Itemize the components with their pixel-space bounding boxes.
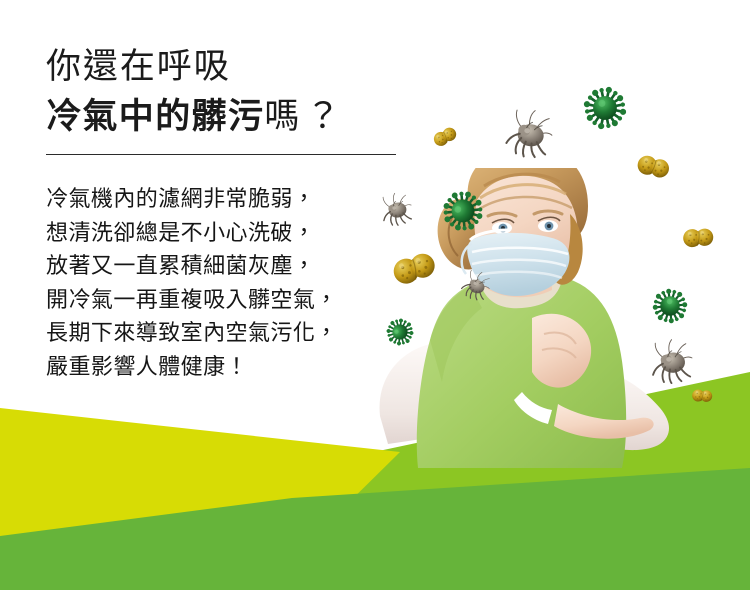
headline-question-mark: ？: [305, 97, 342, 136]
body-copy-line-6: 嚴重影響人體健康！: [46, 350, 446, 384]
headline-line-2: 冷氣中的髒污嗎？: [46, 92, 446, 142]
promo-banner: 你還在呼吸 冷氣中的髒污嗎？ 冷氣機內的濾網非常脆弱， 想清洗卻總是不小心洗破，…: [0, 0, 750, 590]
girl-head: [438, 168, 588, 297]
headline-line-1: 你還在呼吸: [46, 44, 446, 90]
body-copy-line-5: 長期下來導致室內空氣污化，: [46, 316, 446, 350]
headline-particle: 嗎: [264, 97, 301, 136]
headline-divider: [46, 154, 396, 155]
body-copy-line-2: 想清洗卻總是不小心洗破，: [46, 216, 446, 250]
body-copy-line-3: 放著又一直累積細菌灰塵，: [46, 249, 446, 283]
text-block: 你還在呼吸 冷氣中的髒污嗎？ 冷氣機內的濾網非常脆弱， 想清洗卻總是不小心洗破，…: [46, 44, 446, 383]
body-copy-line-1: 冷氣機內的濾網非常脆弱，: [46, 182, 446, 216]
headline-emphasis: 冷氣中的髒污: [46, 97, 264, 136]
body-copy: 冷氣機內的濾網非常脆弱， 想清洗卻總是不小心洗破， 放著又一直累積細菌灰塵， 開…: [46, 182, 446, 383]
girl-pupil-right: [547, 224, 551, 228]
body-copy-line-4: 開冷氣一再重複吸入髒空氣，: [46, 283, 446, 317]
